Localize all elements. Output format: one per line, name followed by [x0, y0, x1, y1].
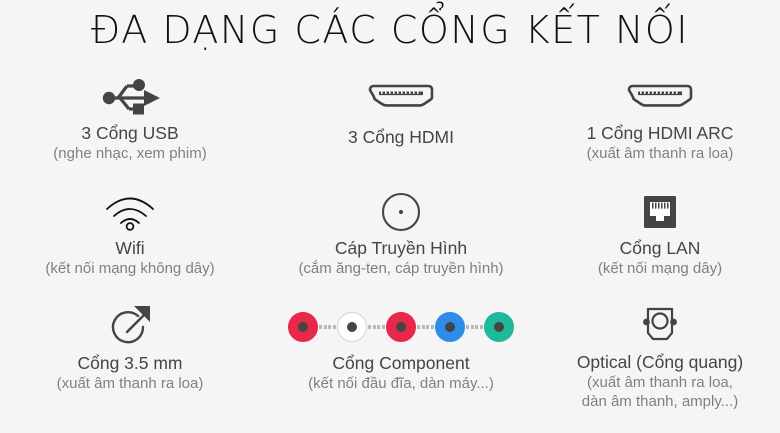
rca-pin: [298, 322, 308, 332]
feature-component: Cổng Component (kết nối đầu đĩa, dàn máy…: [258, 302, 544, 393]
connector-dots: [319, 325, 336, 329]
feature-sublabel: (xuất âm thanh ra loa): [540, 144, 780, 163]
rca-connector-blue: [435, 312, 465, 342]
feature-lan: Cổng LAN (kết nối mạng dây): [540, 187, 780, 278]
feature-hdmi: 3 Cổng HDMI: [258, 72, 544, 148]
hdmi-port-icon: [258, 72, 544, 122]
headphone-jack-arrow-icon: [0, 302, 260, 352]
feature-coaxial: Cáp Truyền Hình (cắm ăng-ten, cáp truyền…: [258, 187, 544, 278]
rca-pin: [396, 322, 406, 332]
feature-label: Cổng LAN: [540, 237, 780, 259]
feature-label: Wifi: [0, 237, 260, 259]
coaxial-antenna-icon: [258, 187, 544, 237]
feature-sublabel: (kết nối mạng không dây): [0, 259, 260, 278]
hdmi-arc-port-icon: [540, 72, 780, 122]
feature-sublabel: (nghe nhạc, xem phim): [0, 144, 260, 163]
feature-sublabel: (kết nối mạng dây): [540, 259, 780, 278]
infographic-page: ĐA DẠNG CÁC CỔNG KẾT NỐI: [0, 0, 780, 433]
feature-sublabel-line2: dàn âm thanh, amply...): [540, 392, 780, 411]
component-rca-icon: [258, 302, 544, 352]
feature-label: 3 Cổng HDMI: [258, 126, 544, 148]
feature-label: Cổng 3.5 mm: [0, 352, 260, 374]
feature-optical: Optical (Cổng quang) (xuất âm thanh ra l…: [540, 302, 780, 411]
feature-label: Cáp Truyền Hình: [258, 237, 544, 259]
feature-label: Optical (Cổng quang): [540, 351, 780, 373]
usb-trident-icon: [0, 72, 260, 122]
feature-jack-35mm: Cổng 3.5 mm (xuất âm thanh ra loa): [0, 302, 260, 393]
rca-pin: [494, 322, 504, 332]
feature-sublabel: (xuất âm thanh ra loa): [0, 374, 260, 393]
feature-usb: 3 Cổng USB (nghe nhạc, xem phim): [0, 72, 260, 163]
connector-dots: [466, 325, 483, 329]
optical-toslink-icon: [540, 302, 780, 352]
connector-dots: [368, 325, 385, 329]
rca-pin: [347, 322, 357, 332]
feature-label: 3 Cổng USB: [0, 122, 260, 144]
feature-sublabel: (kết nối đầu đĩa, dàn máy...): [258, 374, 544, 393]
feature-wifi: Wifi (kết nối mạng không dây): [0, 187, 260, 278]
rca-pin: [445, 322, 455, 332]
rca-connector-teal: [484, 312, 514, 342]
rca-connector-red-1: [288, 312, 318, 342]
feature-label: Cổng Component: [258, 352, 544, 374]
wifi-icon: [0, 187, 260, 237]
page-title: ĐA DẠNG CÁC CỔNG KẾT NỐI: [0, 8, 780, 52]
lan-rj45-icon: [540, 187, 780, 237]
features-grid: 3 Cổng USB (nghe nhạc, xem phim): [0, 72, 780, 433]
feature-hdmi-arc: 1 Cổng HDMI ARC (xuất âm thanh ra loa): [540, 72, 780, 163]
feature-sublabel-line1: (xuất âm thanh ra loa,: [540, 373, 780, 392]
rca-connector-red-2: [386, 312, 416, 342]
feature-sublabel: (cắm ăng-ten, cáp truyền hình): [258, 259, 544, 278]
rca-connector-white: [337, 312, 367, 342]
feature-label: 1 Cổng HDMI ARC: [540, 122, 780, 144]
connector-dots: [417, 325, 434, 329]
